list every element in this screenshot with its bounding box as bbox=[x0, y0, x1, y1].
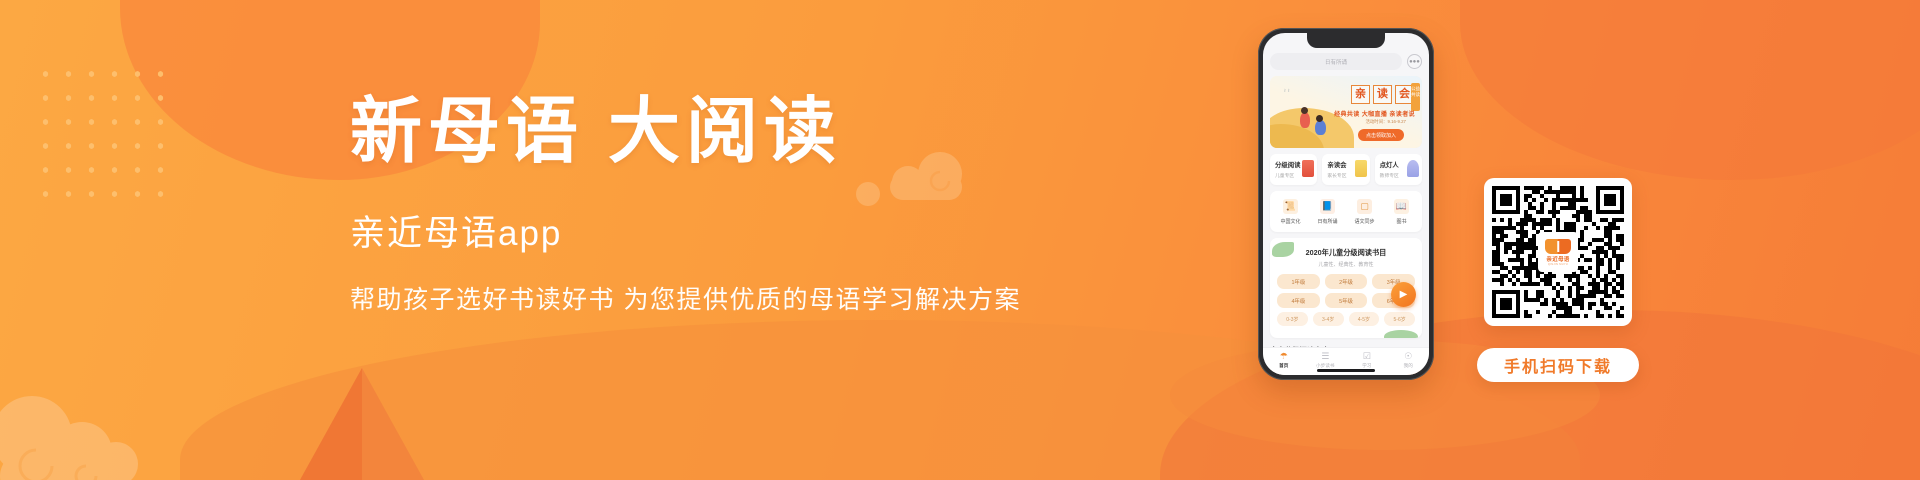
banner-headline: 新母语 大阅读 bbox=[350, 92, 1050, 173]
check-icon: ☑ bbox=[1346, 352, 1388, 361]
age-chip[interactable]: 4-5岁 bbox=[1349, 312, 1380, 326]
quick-link-label: 图书 bbox=[1383, 218, 1420, 225]
download-button[interactable]: 手机扫码下载 bbox=[1477, 348, 1639, 382]
hero-ribbon: 公益共读 bbox=[1411, 83, 1420, 111]
book-list-card: 2020年儿童分级阅读书目 儿童性、经典性、教育性 1年级 2年级 3年级 4年… bbox=[1270, 238, 1422, 338]
hero-join-button[interactable]: 点击领取加入 bbox=[1358, 129, 1404, 141]
quick-link-books[interactable]: 📖 图书 bbox=[1383, 199, 1420, 225]
illustration-child-red-head bbox=[1301, 107, 1308, 114]
banner-subhead: 亲近母语app bbox=[350, 205, 1050, 256]
user-icon: ☉ bbox=[1388, 352, 1430, 361]
age-chip[interactable]: 3-4岁 bbox=[1313, 312, 1344, 326]
decorative-pyramid-shadow bbox=[300, 368, 362, 480]
grade-chip[interactable]: 5年级 bbox=[1325, 293, 1368, 308]
tab-step-reading[interactable]: ☰ 小步读书 bbox=[1305, 352, 1347, 369]
app-hero-card[interactable]: ≀≀ 亲 读 会 公益共读 经典共读 大咖直播 亲读者说 活动时间：9.16-9… bbox=[1270, 76, 1422, 148]
quick-link-label: 日有所诵 bbox=[1309, 218, 1346, 225]
grade-chip[interactable]: 1年级 bbox=[1277, 274, 1320, 289]
hero-title: 亲 读 会 bbox=[1351, 85, 1414, 104]
person-icon bbox=[1407, 160, 1419, 177]
home-indicator bbox=[1317, 369, 1375, 372]
illustration-child-blue-head bbox=[1316, 115, 1323, 122]
qr-logo-text: 亲近母语 bbox=[1546, 255, 1569, 263]
category-card-reading-club[interactable]: 亲读会 家长专区 bbox=[1322, 154, 1369, 185]
grade-chip[interactable]: 4年级 bbox=[1277, 293, 1320, 308]
book-icon: 📘 bbox=[1320, 199, 1335, 214]
banner-copy: 新母语 大阅读 亲近母语app 帮助孩子选好书读好书 为您提供优质的母语学习解决… bbox=[350, 92, 1050, 316]
qr-code: 亲近母语 QINJIN MUYU bbox=[1492, 186, 1624, 318]
play-video-button[interactable]: ▶ bbox=[1391, 282, 1416, 307]
bush-icon bbox=[1384, 330, 1418, 338]
grade-chip[interactable]: 2年级 bbox=[1325, 274, 1368, 289]
hero-date: 活动时间：9.16-9.27 bbox=[1365, 119, 1406, 125]
home-icon: ☂ bbox=[1263, 352, 1305, 361]
tab-label: 首页 bbox=[1263, 363, 1305, 369]
tab-home[interactable]: ☂ 首页 bbox=[1263, 352, 1305, 369]
birds-icon: ≀≀ bbox=[1284, 88, 1292, 94]
message-icon[interactable]: ●●● bbox=[1407, 54, 1422, 69]
quick-link-label: 语文同步 bbox=[1346, 218, 1383, 225]
tab-label: 我的 bbox=[1388, 363, 1430, 369]
qr-code-card: 亲近母语 QINJIN MUYU bbox=[1484, 178, 1632, 326]
quick-link-textbook-sync[interactable]: ▢ 语文同步 bbox=[1346, 199, 1383, 225]
age-row: 0-3岁 3-4岁 4-5岁 5-6岁 bbox=[1277, 312, 1415, 326]
decorative-blob-top-right bbox=[1460, 0, 1920, 180]
book-list-title: 2020年儿童分级阅读书目 bbox=[1277, 248, 1415, 258]
quick-link-chinese-culture[interactable]: 📜 中国文化 bbox=[1272, 199, 1309, 225]
scroll-icon: 📜 bbox=[1283, 199, 1298, 214]
hero-subtitle: 经典共读 大咖直播 亲读者说 bbox=[1334, 109, 1415, 118]
quick-links-card: 📜 中国文化 📘 日有所诵 ▢ 语文同步 📖 图书 bbox=[1270, 191, 1422, 232]
decorative-cloud-icon bbox=[0, 374, 200, 480]
phone-screen: 日有所诵 ●●● ≀≀ 亲 读 会 bbox=[1263, 33, 1429, 375]
hero-title-char-1: 亲 bbox=[1351, 85, 1370, 104]
category-card-lamplighter[interactable]: 点灯人 教师专区 bbox=[1375, 154, 1422, 185]
banner-tagline: 帮助孩子选好书读好书 为您提供优质的母语学习解决方案 bbox=[350, 280, 1050, 316]
illustration-child-red bbox=[1300, 112, 1310, 128]
phone-notch bbox=[1307, 33, 1385, 48]
bookmark-icon bbox=[1302, 160, 1314, 177]
age-chip[interactable]: 5-6岁 bbox=[1384, 312, 1415, 326]
phone-mockup: 日有所诵 ●●● ≀≀ 亲 读 会 bbox=[1258, 28, 1434, 380]
open-book-icon bbox=[1545, 239, 1571, 254]
list-icon: ☰ bbox=[1305, 352, 1347, 361]
book-list-subtitle: 儿童性、经典性、教育性 bbox=[1277, 261, 1415, 268]
note-icon bbox=[1355, 160, 1367, 177]
search-input[interactable]: 日有所诵 bbox=[1270, 53, 1402, 70]
sync-icon: ▢ bbox=[1357, 199, 1372, 214]
quick-link-daily-recite[interactable]: 📘 日有所诵 bbox=[1309, 199, 1346, 225]
qr-logo-subtext: QINJIN MUYU bbox=[1548, 263, 1568, 266]
category-row: 分级阅读 儿童专区 亲读会 家长专区 点灯人 教师专区 bbox=[1270, 154, 1422, 185]
hero-title-char-2: 读 bbox=[1373, 85, 1392, 104]
decorative-dot-grid bbox=[34, 62, 174, 210]
app-search-row: 日有所诵 ●●● bbox=[1270, 53, 1422, 70]
quick-link-label: 中国文化 bbox=[1272, 218, 1309, 225]
library-icon: 📖 bbox=[1394, 199, 1409, 214]
tab-mine[interactable]: ☉ 我的 bbox=[1388, 352, 1430, 369]
tab-study[interactable]: ☑ 学习 bbox=[1346, 352, 1388, 369]
category-card-graded-reading[interactable]: 分级阅读 儿童专区 bbox=[1270, 154, 1317, 185]
decorative-pyramid bbox=[300, 368, 424, 480]
age-chip[interactable]: 0-3岁 bbox=[1277, 312, 1308, 326]
qr-center-logo: 亲近母语 QINJIN MUYU bbox=[1538, 232, 1578, 272]
promo-banner: 新母语 大阅读 亲近母语app 帮助孩子选好书读好书 为您提供优质的母语学习解决… bbox=[0, 0, 1920, 480]
leaf-icon bbox=[1272, 242, 1294, 257]
illustration-child-blue bbox=[1315, 120, 1326, 135]
